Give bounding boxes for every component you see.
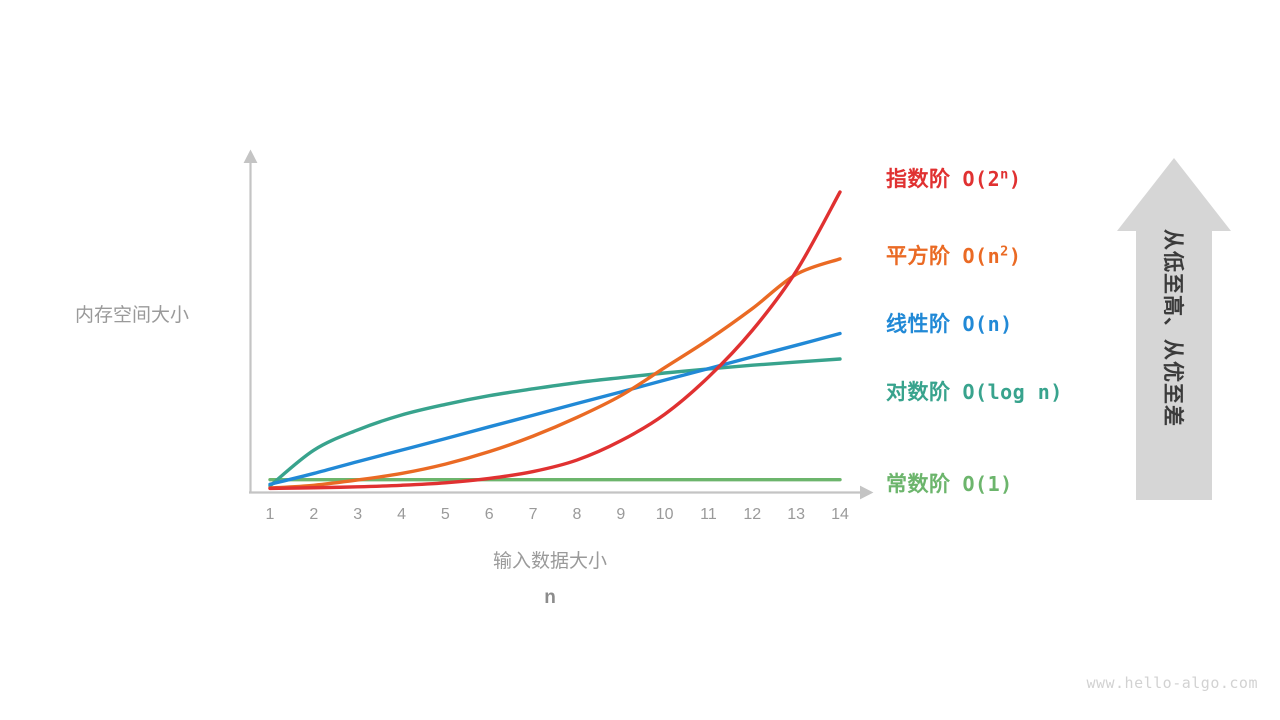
- chart-plot-area: [0, 0, 1280, 720]
- x-tick-label: 4: [387, 506, 417, 524]
- x-tick-label: 5: [430, 506, 460, 524]
- series-paths: [270, 192, 840, 488]
- legend-item-notation: O(log n): [963, 380, 1063, 404]
- series-line: [270, 259, 840, 488]
- chart-canvas: 1234567891011121314 内存空间大小 输入数据大小 n 指数阶O…: [0, 0, 1280, 720]
- legend-item: 平方阶O(n2): [886, 240, 1021, 270]
- x-tick-label: 2: [299, 506, 329, 524]
- series-line: [270, 334, 840, 485]
- x-tick-label: 10: [650, 506, 680, 524]
- legend-item-label: 常数阶: [886, 473, 951, 496]
- x-tick-label: 8: [562, 506, 592, 524]
- x-tick-label: 12: [737, 506, 767, 524]
- x-tick-label: 14: [825, 506, 855, 524]
- x-axis-title: 输入数据大小 n: [400, 549, 700, 610]
- x-tick-label: 6: [474, 506, 504, 524]
- legend-item-label: 对数阶: [886, 381, 951, 404]
- x-tick-label: 1: [255, 506, 285, 524]
- watermark: www.hello-algo.com: [1086, 674, 1258, 692]
- legend-item-notation: O(n): [963, 312, 1013, 336]
- legend-item: 线性阶O(n): [886, 308, 1013, 338]
- x-axis-title-text: 输入数据大小: [493, 551, 607, 572]
- legend-item-label: 线性阶: [886, 313, 951, 336]
- legend-item-notation: O(n2): [963, 244, 1022, 268]
- x-tick-label: 3: [343, 506, 373, 524]
- x-tick-label: 13: [781, 506, 811, 524]
- x-tick-label: 7: [518, 506, 548, 524]
- legend-item-notation: O(1): [963, 472, 1013, 496]
- x-tick-label: 11: [693, 506, 723, 524]
- growth-direction-label: 从低至高、从优至差: [1159, 229, 1189, 427]
- legend-item: 指数阶O(2n): [886, 163, 1021, 193]
- legend-item-notation: O(2n): [963, 167, 1022, 191]
- x-tick-label: 9: [606, 506, 636, 524]
- legend-item-label: 平方阶: [886, 245, 951, 268]
- legend-item: 对数阶O(log n): [886, 376, 1063, 406]
- growth-direction-annotation: 从低至高、从优至差: [1136, 155, 1212, 500]
- y-axis-title: 内存空间大小: [75, 300, 189, 327]
- legend-item-label: 指数阶: [886, 168, 951, 191]
- series-line: [270, 192, 840, 488]
- x-axis-variable: n: [400, 585, 700, 611]
- legend-item: 常数阶O(1): [886, 468, 1013, 498]
